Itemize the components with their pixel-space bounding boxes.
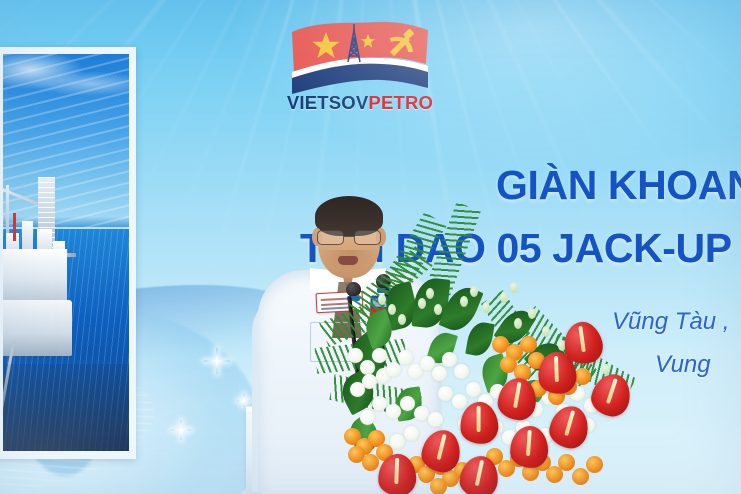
flower-bud xyxy=(500,292,508,303)
photo-sky xyxy=(3,54,129,229)
logo-wordmark-vietsov: VIETSOV xyxy=(287,92,369,113)
vietsovpetro-logo: VIETSOVPETRO xyxy=(286,18,434,114)
logo-wordmark: VIETSOVPETRO xyxy=(286,94,434,113)
rig-deck xyxy=(3,249,67,305)
white-orchid-flower xyxy=(350,382,365,397)
white-orchid-flower xyxy=(442,352,457,367)
eyeglass-bridge xyxy=(344,235,354,237)
flower-bud xyxy=(470,286,478,297)
sparkle-icon xyxy=(171,420,191,440)
rig-red-marker xyxy=(13,213,16,241)
white-orchid-flower xyxy=(386,404,401,419)
bouquet-leaf xyxy=(465,320,495,358)
white-orchid-flower xyxy=(414,406,429,421)
white-orchid-flower xyxy=(428,412,443,427)
white-orchid-flower xyxy=(438,386,453,401)
flower-bud xyxy=(378,294,386,305)
white-orchid-flower xyxy=(454,364,469,379)
flower-bud xyxy=(418,298,426,309)
backdrop-photo-frame xyxy=(0,47,136,459)
banner-subline-en: Vung xyxy=(655,353,711,377)
white-orchid-flower xyxy=(360,410,375,425)
white-orchid-flower xyxy=(398,350,413,365)
flower-bud xyxy=(510,282,518,293)
sparkle-icon xyxy=(237,394,250,407)
flower-bud xyxy=(602,364,610,375)
white-orchid-flower xyxy=(432,366,447,381)
flower-bud xyxy=(460,296,468,307)
orange-orchid-flower xyxy=(586,456,603,473)
flower-bud xyxy=(426,288,434,299)
photo-shadow xyxy=(3,364,129,451)
white-orchid-flower xyxy=(400,396,415,411)
flower-bud xyxy=(514,318,522,329)
white-orchid-flower xyxy=(452,394,467,409)
flower-bud xyxy=(528,308,536,319)
eyeglasses-icon xyxy=(316,230,382,246)
logo-wordmark-petro: PETRO xyxy=(368,92,433,113)
orange-orchid-flower xyxy=(558,454,575,471)
white-orchid-flower xyxy=(466,382,481,397)
light-ray xyxy=(372,0,741,5)
flower-bud xyxy=(434,304,442,315)
white-orchid-flower xyxy=(372,348,387,363)
speaker-mouth xyxy=(338,256,358,265)
white-orchid-flower xyxy=(372,396,387,411)
sparkle-icon xyxy=(204,348,230,374)
white-orchid-flower xyxy=(404,426,419,441)
flower-bud xyxy=(388,304,396,315)
red-anthurium-flower xyxy=(547,403,592,451)
orange-orchid-flower xyxy=(430,478,447,494)
white-orchid-flower xyxy=(360,360,375,375)
offshore-rig-photo xyxy=(3,54,129,451)
flower-bud xyxy=(482,302,490,313)
white-orchid-flower xyxy=(348,348,363,363)
flower-bouquet xyxy=(342,278,642,494)
flower-bud xyxy=(542,326,550,337)
eyeglass-lens-right xyxy=(354,230,381,245)
orange-orchid-flower xyxy=(572,468,589,485)
orange-orchid-flower xyxy=(520,336,537,353)
headline-line-1: GIÀN KHOAN xyxy=(496,152,741,218)
logo-emblem-icon xyxy=(286,18,434,98)
flower-bud xyxy=(398,314,406,325)
white-orchid-flower xyxy=(390,434,405,449)
white-orchid-flower xyxy=(386,362,401,377)
stage-photo-scene: VIETSOVPETRO GIÀN KHOAN TAM DAO 05 JACK-… xyxy=(0,0,741,494)
eyeglass-lens-left xyxy=(317,230,344,245)
